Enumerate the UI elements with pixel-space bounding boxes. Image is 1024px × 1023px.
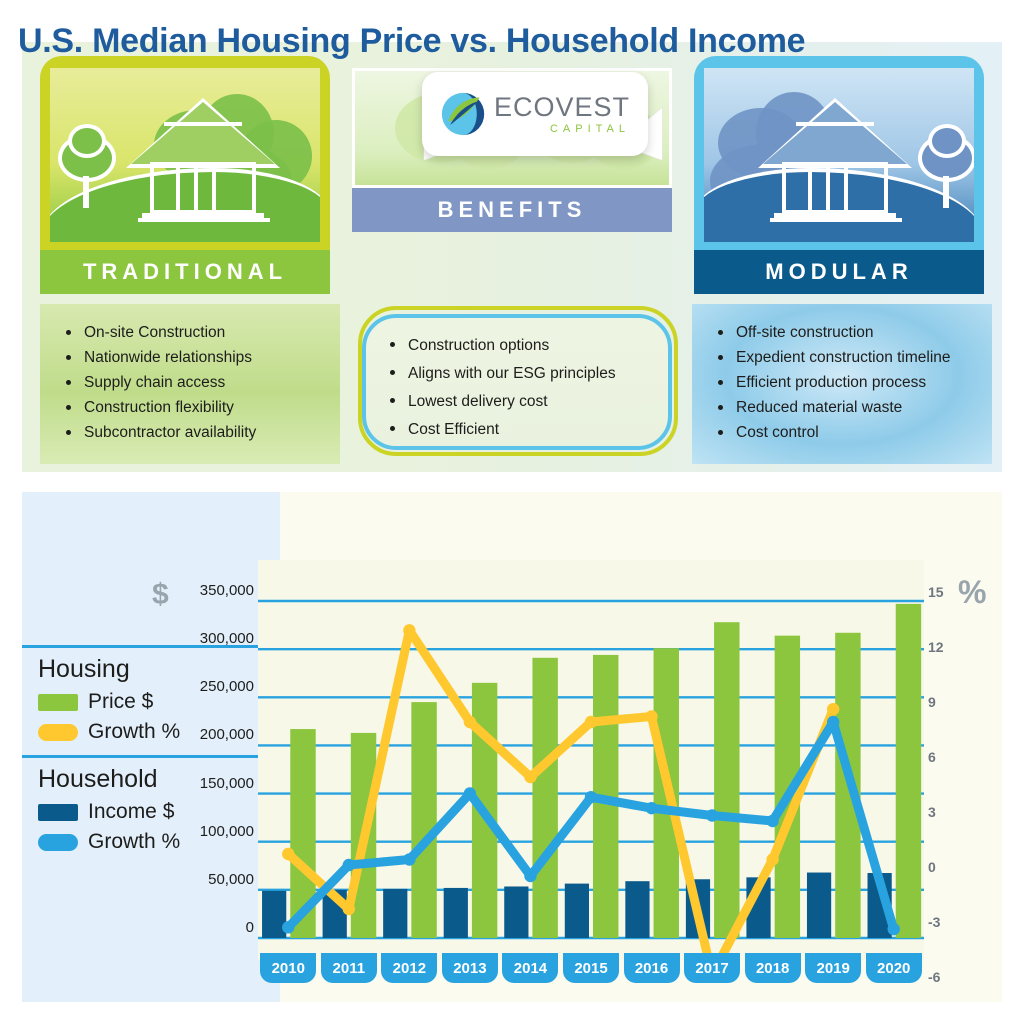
growth-point — [464, 716, 476, 728]
y-axis-tick-label: 100,000 — [190, 823, 254, 840]
legend-label: Price $ — [88, 690, 153, 714]
income-bar — [262, 891, 286, 938]
right-axis-symbol: % — [958, 574, 986, 611]
page-title: U.S. Median Housing Price vs. Household … — [18, 22, 958, 61]
x-axis-year-2018[interactable]: 2018 — [745, 953, 801, 983]
list-item: On-site Construction — [66, 320, 332, 345]
x-axis-year-2015[interactable]: 2015 — [563, 953, 619, 983]
tree-icon — [58, 134, 116, 208]
growth-point — [464, 787, 476, 799]
list-item: Cost Efficient — [390, 416, 660, 444]
legend-swatch-growth — [38, 724, 78, 741]
house-icon — [128, 102, 278, 222]
list-item: Supply chain access — [66, 370, 332, 395]
price-bar — [532, 658, 557, 938]
growth-point — [282, 848, 294, 860]
brand-logo[interactable]: ECOVEST CAPITAL — [422, 72, 648, 156]
price-bar — [896, 604, 921, 938]
y2-axis-tick-label: 0 — [928, 859, 954, 875]
y-axis-tick-label: 350,000 — [190, 582, 254, 599]
price-bar — [411, 702, 436, 938]
y2-axis-tick-label: -6 — [928, 969, 954, 985]
legend-label: Income $ — [88, 800, 174, 824]
x-axis-year-2010[interactable]: 2010 — [260, 953, 316, 983]
legend-label: Growth % — [88, 720, 180, 744]
header-label-modular: MODULAR — [765, 259, 912, 285]
y-axis-tick-label: 50,000 — [190, 871, 254, 888]
y-axis-tick-label: 200,000 — [190, 726, 254, 743]
growth-point — [343, 859, 355, 871]
growth-point — [888, 923, 900, 935]
x-axis-year-2020[interactable]: 2020 — [866, 953, 922, 983]
x-axis-year-2013[interactable]: 2013 — [442, 953, 498, 983]
comparison-panel: TRADITIONAL BENEFITS — [22, 42, 1002, 472]
y-axis-tick-label: 150,000 — [190, 775, 254, 792]
growth-point — [645, 710, 657, 722]
growth-point — [403, 624, 415, 636]
growth-point — [766, 815, 778, 827]
y-axis-tick-label: 0 — [190, 919, 254, 936]
x-axis-year-2019[interactable]: 2019 — [805, 953, 861, 983]
legend-swatch-income — [38, 804, 78, 821]
legend-divider — [22, 755, 280, 758]
income-bar — [383, 889, 407, 938]
y2-axis-tick-label: -3 — [928, 914, 954, 930]
growth-point — [524, 870, 536, 882]
y-axis-tick-label: 300,000 — [190, 630, 254, 647]
brand-subtitle: CAPITAL — [494, 124, 630, 135]
y2-axis-tick-label: 12 — [928, 639, 954, 655]
header-label-traditional: TRADITIONAL — [83, 259, 287, 285]
brand-name: ECOVEST — [494, 94, 630, 121]
legend-item-household-income[interactable]: Income $ — [38, 800, 268, 824]
list-item: Cost control — [718, 420, 984, 445]
x-axis-year-2016[interactable]: 2016 — [624, 953, 680, 983]
legend-swatch-price — [38, 694, 78, 711]
legend-swatch-growth — [38, 834, 78, 851]
legend-label: Growth % — [88, 830, 180, 854]
income-bar — [565, 884, 589, 938]
infographic-page: TRADITIONAL BENEFITS — [0, 0, 1024, 1023]
x-axis-year-2011[interactable]: 2011 — [321, 953, 377, 983]
growth-point — [827, 703, 839, 715]
growth-point — [585, 791, 597, 803]
price-bar — [714, 622, 739, 938]
list-item: Construction flexibility — [66, 395, 332, 420]
ecovest-leaf-icon — [440, 91, 486, 137]
bullets-modular: Off-site construction Expedient construc… — [692, 304, 992, 464]
left-axis-symbol: $ — [152, 578, 169, 612]
y2-axis-tick-label: 6 — [928, 749, 954, 765]
list-item: Lowest delivery cost — [390, 388, 660, 416]
list-item: Aligns with our ESG principles — [390, 360, 660, 388]
column-header-modular: MODULAR — [694, 250, 984, 294]
income-bar — [625, 881, 649, 938]
y2-axis-tick-label: 3 — [928, 804, 954, 820]
tree-icon — [918, 134, 974, 208]
growth-point — [343, 903, 355, 915]
y2-axis-tick-label: 15 — [928, 584, 954, 600]
list-item: Expedient construction timeline — [718, 345, 984, 370]
list-item: Subcontractor availability — [66, 420, 332, 445]
growth-point — [403, 853, 415, 865]
x-axis-year-2012[interactable]: 2012 — [381, 953, 437, 983]
list-item: Reduced material waste — [718, 395, 984, 420]
bullets-traditional: On-site Construction Nationwide relation… — [40, 304, 340, 464]
growth-point — [766, 853, 778, 865]
growth-point — [524, 771, 536, 783]
list-item: Nationwide relationships — [66, 345, 332, 370]
list-item: Off-site construction — [718, 320, 984, 345]
column-header-traditional: TRADITIONAL — [40, 250, 330, 294]
y2-axis-tick-label: 9 — [928, 694, 954, 710]
growth-point — [706, 809, 718, 821]
x-axis-year-2014[interactable]: 2014 — [502, 953, 558, 983]
growth-point — [585, 716, 597, 728]
growth-point — [827, 716, 839, 728]
list-item: Construction options — [390, 332, 660, 360]
bullets-benefits: Construction options Aligns with our ESG… — [362, 314, 672, 450]
income-bar — [504, 886, 528, 938]
income-bar — [444, 888, 468, 938]
growth-point — [282, 921, 294, 933]
chart-plot-area — [258, 560, 958, 960]
y-axis-tick-label: 250,000 — [190, 678, 254, 695]
growth-point — [645, 802, 657, 814]
x-axis-year-2017[interactable]: 2017 — [684, 953, 740, 983]
list-item: Efficient production process — [718, 370, 984, 395]
income-bar — [807, 873, 831, 938]
